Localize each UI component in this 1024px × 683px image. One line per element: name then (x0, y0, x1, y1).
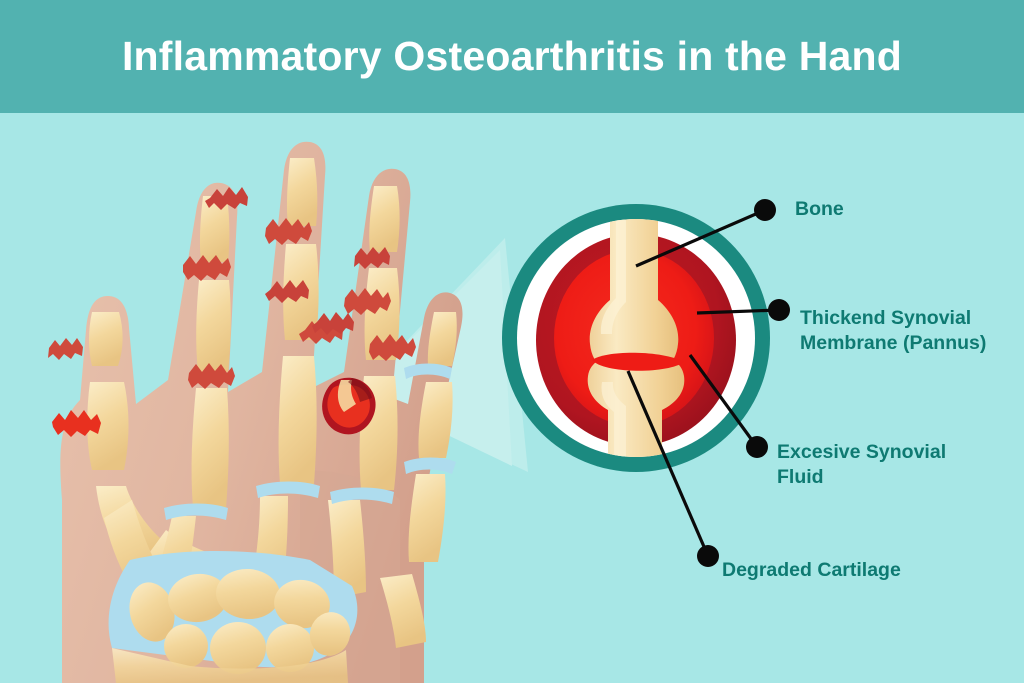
inflammation-mark-thumb-upper (48, 338, 83, 360)
callout-dot-icon-pannus (768, 299, 790, 321)
infographic-root: Inflammatory Osteoarthritis in the Hand (0, 0, 1024, 683)
callout-dot-icon-fluid (746, 436, 768, 458)
carpal-bones (109, 551, 358, 683)
magnified-joint-diagram (502, 204, 770, 472)
callout-label-bone: Bone (795, 197, 844, 222)
callout-label-degraded-cartilage: Degraded Cartilage (722, 558, 901, 583)
hand-illustration (48, 142, 463, 683)
callout-dot-icon-bone (754, 199, 776, 221)
callout-dot-icon-cartilage (697, 545, 719, 567)
callout-label-excessive-synovial-fluid: Excesive Synovial Fluid (777, 440, 946, 490)
callout-label-thickened-synovial-membrane: Thickend Synovial Membrane (Pannus) (800, 306, 986, 356)
